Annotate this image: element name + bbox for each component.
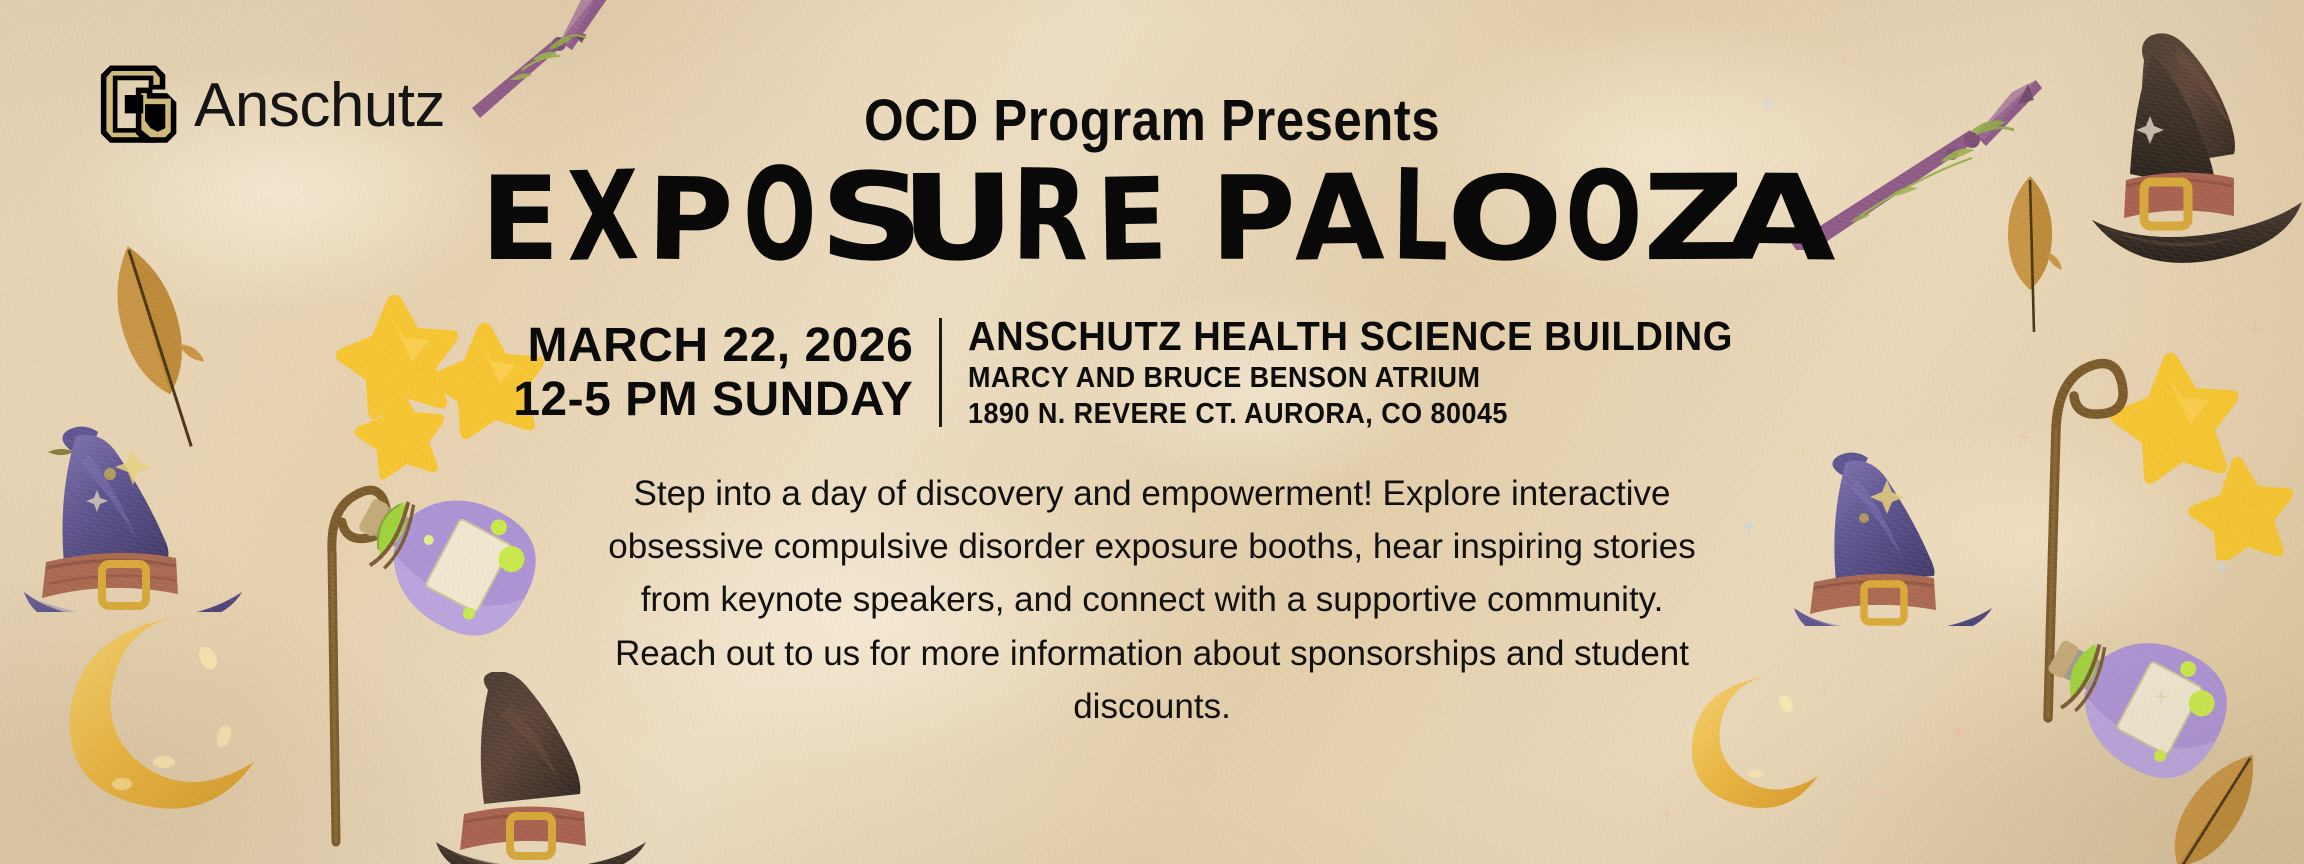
sparkle-icon	[288, 742, 302, 756]
date-time-block: MARCH 22, 2026 12-5 PM SUNDAY	[513, 314, 939, 433]
event-banner: Anschutz OCD Program Presents EXPOSURE P…	[0, 0, 2304, 864]
event-title: EXPOSURE PALOOZA	[0, 162, 2304, 278]
title-letter: O	[743, 152, 816, 281]
title-letter: E	[481, 162, 559, 278]
event-details-row: MARCH 22, 2026 12-5 PM SUNDAY ANSCHUTZ H…	[0, 314, 2304, 433]
title-letter: X	[566, 155, 639, 280]
sparkle-icon	[1660, 808, 1674, 822]
title-letter: R	[1011, 154, 1088, 280]
event-time: 12-5 PM SUNDAY	[513, 373, 913, 427]
title-letter: A	[1724, 159, 1836, 278]
description-line: Reach out to us for more information abo…	[587, 627, 1717, 680]
sparkle-icon	[2040, 790, 2054, 804]
venue-address: 1890 N. REVERE CT. AURORA, CO 80045	[968, 396, 1733, 433]
venue-block: ANSCHUTZ HEALTH SCIENCE BUILDING MARCY A…	[942, 314, 1790, 433]
title-letter: O	[1564, 155, 1642, 280]
title-letter: E	[1095, 163, 1167, 278]
event-description: Step into a day of discovery and empower…	[587, 467, 1717, 733]
sparkle-icon	[1874, 786, 1888, 800]
title-letter: P	[646, 163, 733, 278]
description-line: Step into a day of discovery and empower…	[587, 467, 1717, 520]
venue-room: MARCY AND BRUCE BENSON ATRIUM	[968, 360, 1733, 397]
venue-name: ANSCHUTZ HEALTH SCIENCE BUILDING	[968, 314, 1733, 360]
title-letter: L	[1392, 153, 1449, 280]
description-line: obsessive compulsive disorder exposure b…	[587, 520, 1717, 573]
kicker-text: OCD Program Presents	[138, 92, 2166, 150]
title-letter: P	[1211, 162, 1295, 278]
title-letter: A	[1293, 159, 1383, 279]
description-line: discounts.	[587, 680, 1717, 733]
feather-icon	[2130, 740, 2304, 864]
description-line: from keynote speakers, and connect with …	[587, 573, 1717, 626]
title-letter: U	[900, 160, 1015, 279]
banner-content: OCD Program Presents EXPOSURE PALOOZA MA…	[0, 0, 2304, 733]
event-date: MARCH 22, 2026	[513, 319, 913, 373]
title-letter: O	[1447, 162, 1563, 279]
